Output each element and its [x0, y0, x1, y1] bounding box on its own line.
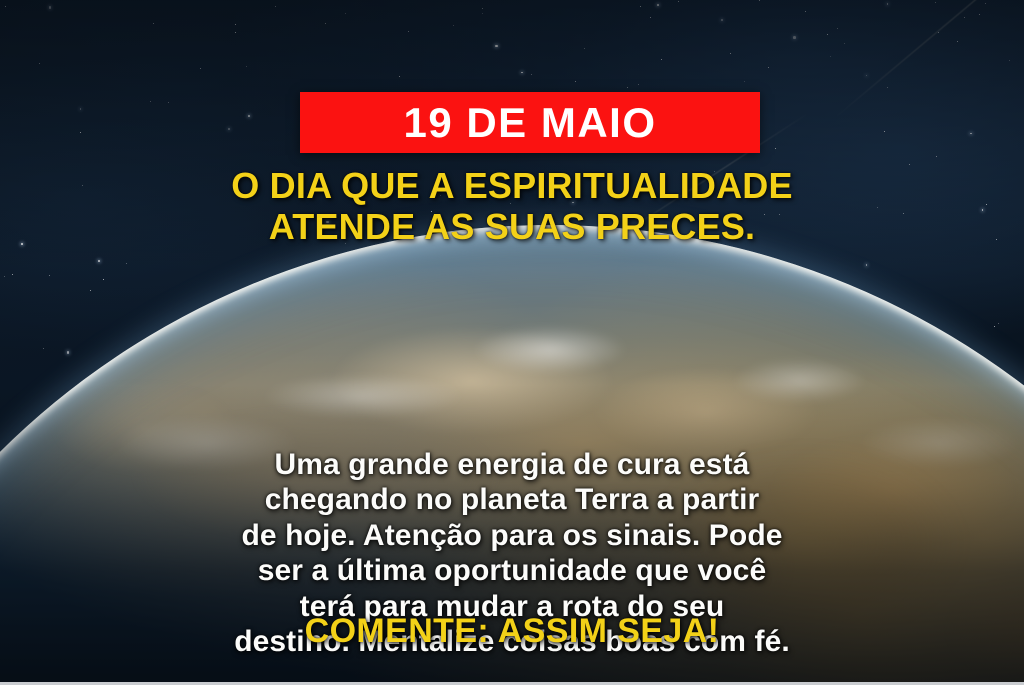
headline: O DIA QUE A ESPIRITUALIDADE ATENDE AS SU… — [0, 166, 1024, 247]
call-to-action-text: COMENTE: ASSIM SEJA! — [0, 613, 1024, 650]
body-line-3: de hoje. Atenção para os sinais. Pode — [0, 518, 1024, 553]
headline-line-2: ATENDE AS SUAS PRECES. — [0, 207, 1024, 248]
body-line-4: ser a última oportunidade que você — [0, 553, 1024, 588]
poster-canvas: 19 DE MAIO O DIA QUE A ESPIRITUALIDADE A… — [0, 0, 1024, 685]
body-line-2: chegando no planeta Terra a partir — [0, 482, 1024, 517]
poster-content: 19 DE MAIO O DIA QUE A ESPIRITUALIDADE A… — [0, 0, 1024, 685]
body-line-1: Uma grande energia de cura está — [0, 447, 1024, 482]
headline-line-1: O DIA QUE A ESPIRITUALIDADE — [0, 166, 1024, 207]
date-banner: 19 DE MAIO — [300, 92, 760, 153]
date-banner-label: 19 DE MAIO — [403, 102, 656, 144]
